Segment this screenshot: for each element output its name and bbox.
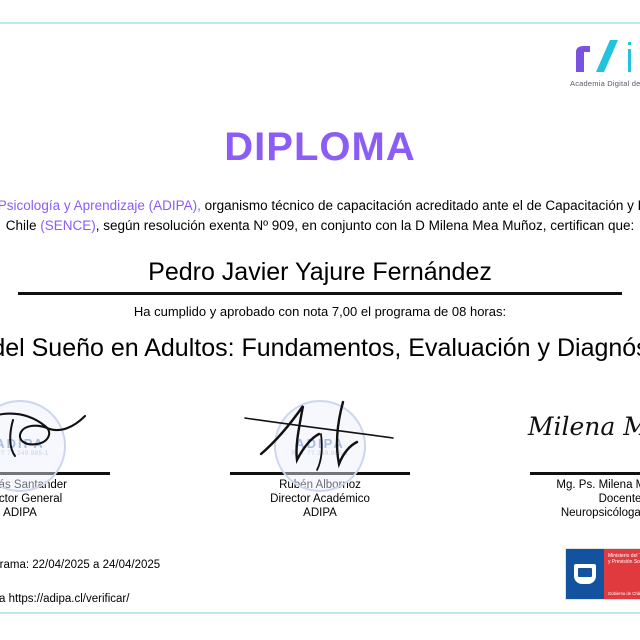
footer-issue-date: de 2025 [0,540,160,557]
footer-verification-url[interactable]: loma ingrese a https://adipa.cl/verifica… [0,591,160,608]
logo-wordmark: Academia Digital de Psicología y Aprendi… [570,79,640,88]
signature-art-2: ADIPA RUT 77.249.985-1 [215,398,425,472]
chile-coat-of-arms-icon [574,564,596,584]
signatory-name: Mg. Ps. Milena Mea Muñ [515,478,640,492]
signature-art-3: Milena Mea M [515,398,640,472]
certificate-page: Academia Digital de Psicología y Aprendi… [0,0,640,640]
adipa-logo-icon [570,36,640,76]
handwritten-signature-icon [0,398,115,472]
handwritten-signature-icon [225,398,415,472]
intro-line1-rest: organismo técnico de capacitación acredi… [201,198,523,213]
seal-crest-panel [566,549,604,599]
signature-block-2: ADIPA RUT 77.249.985-1 Rubén Albornoz Di… [215,398,425,520]
signatory-role: Docente [515,492,640,506]
signature-art-1: ADIPA RUT 77.249.985-1 [0,398,125,472]
page-title: DIPLOMA [0,125,640,170]
footer-verification-code: YX1yQu [0,574,160,591]
grade-text-before: Ha cumplido y aprobado con nota [134,304,328,319]
bottom-border-rule [0,612,640,614]
recipient-name: Pedro Javier Yajure Fernández [0,258,640,287]
signatory-org: ADIPA [215,506,425,520]
recipient-rule [18,292,622,295]
intro-accent-sence: (SENCE) [40,218,96,233]
footer-program-dates: mino del programa: 22/04/2025 a 24/04/20… [0,557,160,574]
signatory-org: Neuropsicóloga Clínica [515,506,640,520]
footer-block: de 2025 mino del programa: 22/04/2025 a … [0,540,160,608]
intro-accent-adipa: Digital de Psicología y Aprendizaje (ADI… [0,198,201,213]
seal-text-panel: Ministerio del Trabajo y Previsión Socia… [604,549,640,599]
signatory-role: Director General [0,492,125,506]
logo-block: Academia Digital de Psicología y Aprendi… [570,36,640,88]
signature-block-1: ADIPA RUT 77.249.985-1 Nicolás Santander… [0,398,125,520]
signatory-org: ADIPA [0,506,125,520]
grade-text-after: el programa de 08 horas: [361,304,506,319]
top-border-rule [0,22,640,24]
seal-ministry-label: Ministerio del Trabajo y Previsión Socia… [608,553,640,565]
cursive-signature: Milena Mea M [528,412,640,441]
intro-paragraph: Digital de Psicología y Aprendizaje (ADI… [0,196,640,236]
course-title: del Sueño en Adultos: Fundamentos, Evalu… [0,334,640,363]
ministerio-trabajo-seal-icon: Ministerio del Trabajo y Previsión Socia… [565,548,640,600]
intro-line2-b: , según resolución exenta Nº 909, en con… [96,218,425,233]
intro-line3: Milena Mea Muñoz, certifican que: [429,218,635,233]
signature-block-3: Milena Mea M Mg. Ps. Milena Mea Muñ Doce… [515,398,640,520]
grade-line: Ha cumplido y aprobado con nota 7,00 el … [0,304,640,319]
seal-government-label: Gobierno de Chile [608,591,640,596]
signature-row: ADIPA RUT 77.249.985-1 Nicolás Santander… [0,398,640,520]
grade-value: 7,00 [332,304,357,319]
signature-rule [530,472,640,475]
signatory-role: Director Académico [215,492,425,506]
